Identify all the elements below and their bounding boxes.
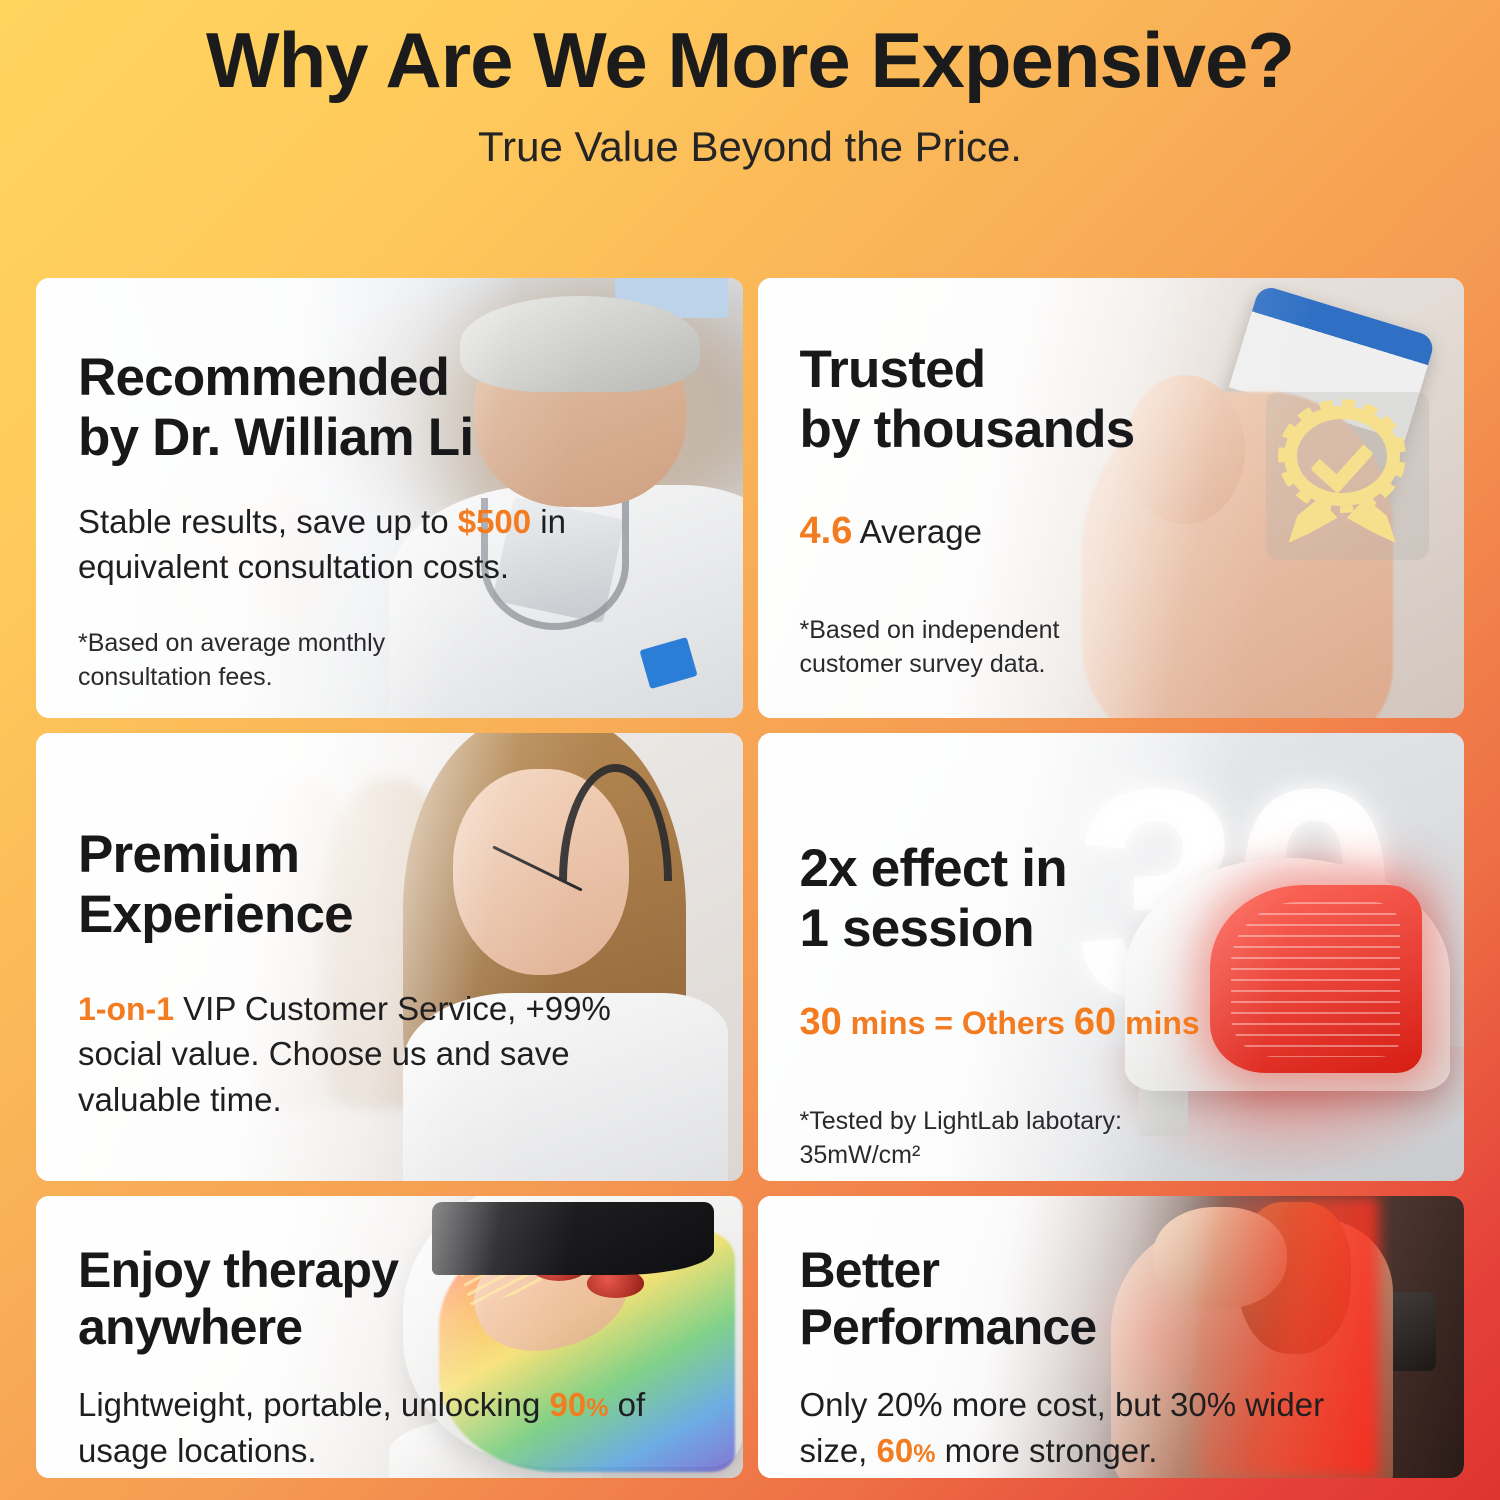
stat-accent-value: 4.6 — [800, 510, 853, 552]
card-footnote: *Tested by LightLab labotary: 35mW/cm² — [800, 1104, 1465, 1172]
footnote-line1: *Tested by LightLab labotary: — [800, 1104, 1465, 1138]
card-title-line1: Enjoy therapy — [78, 1242, 743, 1299]
feature-card-trusted-by-thousands[interactable]: Trusted by thousands 4.6 Average *Based … — [758, 278, 1465, 718]
stat-accent-value: 60 — [877, 1432, 914, 1469]
footnote-line2: consultation fees. — [78, 660, 743, 694]
stat-accent-unit: % — [913, 1440, 935, 1468]
feature-card-double-effect[interactable]: 30 2x effect in 1 session 30 mins = Othe… — [758, 733, 1465, 1181]
footnote-line1: *Based on average monthly — [78, 626, 743, 660]
stat-prefix: Lightweight, portable, unlocking — [78, 1386, 549, 1423]
card-stat-line: Stable results, save up to $500 in equiv… — [78, 499, 718, 590]
page-title: Why Are We More Expensive? — [0, 20, 1500, 102]
stat-unit-text: mins — [1116, 1005, 1200, 1041]
card-title-line2: by thousands — [800, 400, 1465, 460]
card-title-line1: Better — [800, 1242, 1465, 1299]
feature-card-therapy-anywhere[interactable]: Enjoy therapy anywhere Lightweight, port… — [36, 1196, 743, 1478]
card-stat-line: Lightweight, portable, unlocking 90% of … — [78, 1382, 698, 1473]
stat-value-ours: 30 — [800, 1001, 842, 1043]
card-title-line1: Recommended — [78, 348, 743, 408]
card-title-line2: 1 session — [800, 899, 1465, 959]
stat-value-others: 60 — [1074, 1001, 1116, 1043]
card-stat-line: 4.6 Average — [800, 505, 1440, 557]
feature-card-grid: Recommended by Dr. William Li Stable res… — [36, 278, 1464, 1468]
footnote-line2: 35mW/cm² — [800, 1138, 1465, 1172]
card-title-line1: Trusted — [800, 340, 1465, 400]
stat-prefix: Stable results, save up to — [78, 503, 458, 540]
feature-card-better-performance[interactable]: Better Performance Only 20% more cost, b… — [758, 1196, 1465, 1478]
card-footnote: *Based on average monthly consultation f… — [78, 626, 743, 694]
stat-suffix: Average — [852, 513, 982, 550]
stat-comparison-text: mins = Others — [842, 1005, 1074, 1041]
card-stat-line: Only 20% more cost, but 30% wider size, … — [800, 1382, 1400, 1473]
card-title-line1: 2x effect in — [800, 839, 1465, 899]
card-title-line2: anywhere — [78, 1299, 743, 1356]
stat-accent-value: 90 — [549, 1386, 586, 1423]
footnote-line1: *Based on independent — [800, 613, 1465, 647]
card-title-line2: Performance — [800, 1299, 1465, 1356]
feature-card-recommended-by-doctor[interactable]: Recommended by Dr. William Li Stable res… — [36, 278, 743, 718]
card-stat-line: 30 mins = Others 60 mins — [800, 996, 1440, 1048]
stat-accent-unit: % — [586, 1394, 608, 1422]
card-title-line2: by Dr. William Li — [78, 408, 743, 468]
card-footnote: *Based on independent customer survey da… — [800, 613, 1465, 681]
stat-suffix: more stronger. — [935, 1432, 1157, 1469]
card-stat-line: 1-on-1 VIP Customer Service, +99% social… — [78, 986, 638, 1123]
stat-accent-value: 1-on-1 — [78, 991, 174, 1027]
footnote-line2: customer survey data. — [800, 647, 1465, 681]
card-title-line1: Premium — [78, 825, 743, 885]
stat-accent-value: $500 — [458, 503, 531, 540]
card-title-line2: Experience — [78, 885, 743, 945]
page-header: Why Are We More Expensive? True Value Be… — [0, 0, 1500, 170]
feature-card-premium-experience[interactable]: Premium Experience 1-on-1 VIP Customer S… — [36, 733, 743, 1181]
page-subtitle: True Value Beyond the Price. — [0, 124, 1500, 170]
